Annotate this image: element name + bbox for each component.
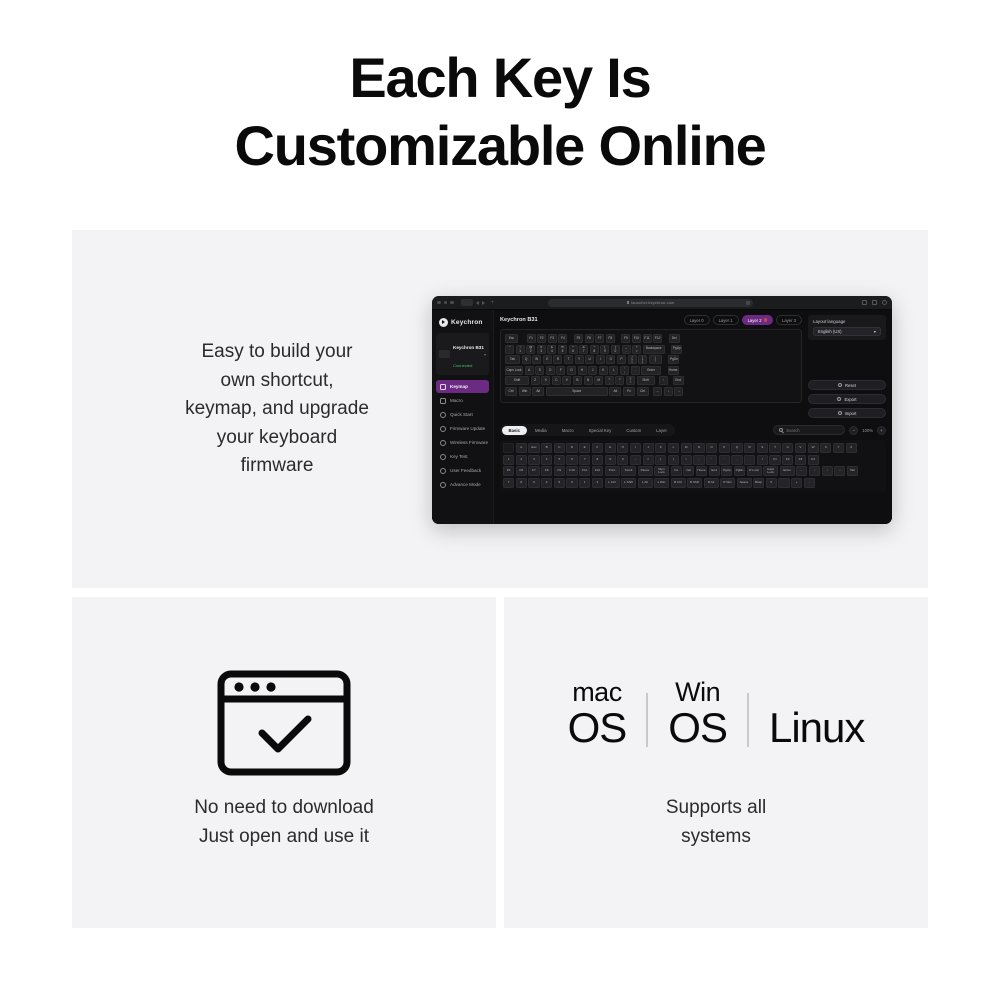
browser-nav-controls: +	[437, 299, 494, 306]
key-legend: F2	[540, 337, 544, 340]
layer-tab-layer-3[interactable]: Layer 3	[776, 315, 802, 325]
keycode-key[interactable]: T	[769, 443, 780, 453]
keycode-key[interactable]: Enter	[780, 466, 795, 476]
launcher-app-body: Keychron Keychron B31 Connected ▾ Keymap…	[432, 310, 892, 524]
key-legend: F10	[634, 337, 640, 340]
os-logo-winos-bottom: OS	[668, 707, 727, 749]
config-action-buttons: ResetExportImport	[808, 380, 886, 418]
keycode-key[interactable]: 6	[566, 478, 577, 488]
keyboard-key[interactable]: W	[532, 355, 541, 364]
key-legend: H	[581, 369, 583, 372]
keycode-key[interactable]: Space	[737, 478, 752, 488]
keycode-key[interactable]: Z	[846, 443, 857, 453]
keyboard-key[interactable]: Tab	[505, 355, 520, 364]
window-maximize-icon[interactable]	[450, 301, 454, 305]
keyboard-key[interactable]: }]	[638, 355, 647, 364]
keycode-grid[interactable]: AEscBCDEFGHIJKLMNOPQRSTUVWXYZ1234567890-…	[500, 440, 886, 492]
layer-tab-layer-0[interactable]: Layer 0	[684, 315, 710, 325]
keycode-key[interactable]: `	[719, 455, 730, 465]
key-legend: F5	[577, 337, 581, 340]
layer-tab-layer-2[interactable]: Layer 2	[742, 315, 773, 325]
keyboard-key[interactable]: |\	[649, 355, 662, 364]
keycode-key[interactable]: J	[643, 443, 654, 453]
export-button[interactable]: Export	[808, 394, 886, 404]
keyboard-key[interactable]: Del	[669, 334, 680, 343]
layout-language-value: English (US)	[818, 329, 842, 334]
tabs-icon[interactable]	[872, 300, 877, 305]
layer-tab-label: Layer 1	[719, 318, 733, 323]
keyboard-row: ShiftZXCVBNM<,>.?/Shift↑End	[505, 376, 797, 385]
keyboard-key[interactable]: Fn	[623, 387, 635, 396]
share-icon[interactable]	[862, 300, 867, 305]
chevron-left-icon[interactable]	[476, 301, 479, 305]
key-legend: ↑	[663, 379, 665, 382]
device-meta: Keychron B31 Connected	[453, 336, 481, 372]
keyboard-key[interactable]: G	[567, 366, 576, 375]
keyboard-key[interactable]: ?/	[626, 376, 635, 385]
keycode-key[interactable]: Caps Lock	[763, 466, 778, 476]
keycode-key[interactable]: Print	[605, 466, 620, 476]
keyboard-key[interactable]: F5	[574, 334, 583, 343]
keyboard-key[interactable]: F9	[621, 334, 630, 343]
keyboard-key[interactable]: Y	[575, 355, 584, 364]
keycode-key[interactable]: ←	[796, 466, 807, 476]
keycode-key[interactable]: ↓	[822, 466, 833, 476]
keyboard-key[interactable]: Space	[546, 387, 608, 396]
keyboard-key[interactable]: Ctrl	[637, 387, 649, 396]
keyboard-key[interactable]: #3	[537, 345, 546, 354]
import-icon	[838, 411, 842, 415]
keyboard-key[interactable]: U	[585, 355, 594, 364]
browser-window-check-icon	[216, 669, 352, 782]
keyboard-key[interactable]: +=	[632, 345, 641, 354]
keycode-key[interactable]: L	[668, 443, 679, 453]
keycode-key[interactable]: R Shift	[687, 478, 702, 488]
keyboard-key[interactable]: →	[674, 387, 683, 396]
keyboard-key[interactable]: ↓	[664, 387, 673, 396]
keycode-key[interactable]: +	[791, 478, 802, 488]
keycode-key[interactable]: Tab	[847, 466, 858, 476]
keycode-key[interactable]: R	[744, 443, 755, 453]
keycode-key[interactable]: C	[554, 443, 565, 453]
keycode-key[interactable]: 7	[503, 478, 514, 488]
keyboard-key[interactable]: J	[588, 366, 597, 375]
keycode-key[interactable]: 1	[579, 478, 590, 488]
keycode-key[interactable]: F	[592, 443, 603, 453]
keycode-key[interactable]: F10	[566, 466, 577, 476]
keycode-key[interactable]: 8	[592, 455, 603, 465]
keyboard-key[interactable]: Shift	[505, 376, 529, 385]
sidebar-nav-list: KeymapMacroQuick StartFirmware UpdateWir…	[436, 380, 489, 491]
sidebar-item-keymap[interactable]: Keymap	[436, 380, 489, 393]
key-legend: Space	[572, 390, 581, 393]
keycode-key[interactable]: Num Lock	[654, 466, 669, 476]
key-legend: Q	[525, 358, 527, 361]
keyboard-key[interactable]: N	[584, 376, 593, 385]
keycode-key[interactable]: I	[630, 443, 641, 453]
chevron-down-icon[interactable]: ▾	[484, 352, 486, 357]
layout-language-box: Layout language English (US) ▾	[808, 315, 886, 340]
key-legend-bottom: -	[626, 350, 627, 353]
keyboard-key[interactable]: PgUp	[671, 345, 682, 354]
sidebar-item-user-feedback[interactable]: User Feedback	[436, 464, 489, 477]
keyboard-key[interactable]: F1	[527, 334, 536, 343]
picker-tab-special-key[interactable]: Special Key	[582, 426, 619, 435]
keycode-key[interactable]: 9	[605, 455, 616, 465]
keycode-key[interactable]: 2	[592, 478, 603, 488]
keyboard-key[interactable]: M	[594, 376, 603, 385]
keyboard-key[interactable]: Caps Lock	[505, 366, 523, 375]
keyboard-key[interactable]: PgDn	[668, 355, 679, 364]
keycode-key[interactable]: L Win	[654, 478, 669, 488]
keycode-key[interactable]: 1	[503, 455, 514, 465]
keyboard-key[interactable]: :;	[620, 366, 629, 375]
copy-line: your keyboard	[122, 424, 432, 453]
page-title: Each Key Is Customizable Online	[0, 44, 1000, 180]
picker-tab-basic[interactable]: Basic	[502, 426, 527, 435]
layout-language-select[interactable]: English (US) ▾	[813, 327, 881, 336]
keyboard-key[interactable]: @2	[526, 345, 535, 354]
key-legend: D	[549, 369, 551, 372]
chevron-down-icon: ▾	[874, 329, 876, 334]
keyboard-key[interactable]: C	[552, 376, 561, 385]
keycode-key[interactable]: Home	[696, 466, 707, 476]
keycode-key[interactable]: .	[744, 455, 755, 465]
sidebar-item-firmware-update[interactable]: Firmware Update	[436, 422, 489, 435]
browser-address-bar[interactable]: launcher.keychron.com	[548, 299, 753, 307]
key-legend-bottom: 3	[540, 350, 542, 353]
caption-line-2: systems	[504, 822, 928, 851]
picker-tab-layer[interactable]: Layer	[649, 426, 674, 435]
keyboard-key[interactable]: X	[541, 376, 550, 385]
keyboard-key[interactable]: K	[599, 366, 608, 375]
keycode-key[interactable]: Y	[833, 443, 844, 453]
key-legend: Win	[522, 390, 528, 393]
keycode-key[interactable]: B	[541, 443, 552, 453]
keyboard-row: EscF1F2F3F4F5F6F7F8F9F10F11F12Del	[505, 334, 797, 343]
zoom-out-icon[interactable]: −	[849, 426, 858, 435]
keycode-key[interactable]: V	[795, 443, 806, 453]
keyboard-key[interactable]: H	[578, 366, 587, 375]
keyboard-key[interactable]: D	[546, 366, 555, 375]
keycode-key[interactable]: L Alt	[638, 478, 653, 488]
keycode-key[interactable]: Q	[731, 443, 742, 453]
keycode-key[interactable]: X	[820, 443, 831, 453]
keyboard-key[interactable]: F10	[632, 334, 641, 343]
keycode-key[interactable]: 5	[554, 455, 565, 465]
keycode-key[interactable]: 0	[766, 478, 777, 488]
keyboard-key[interactable]: <,	[605, 376, 614, 385]
keycode-row: F5F6F7F8F9F10F11F12PrintScrollPauseNum L…	[503, 466, 883, 476]
sidebar-item-macro[interactable]: Macro	[436, 394, 489, 407]
keycode-key[interactable]: F4	[808, 455, 819, 465]
key-legend-bottom: ]	[642, 360, 643, 363]
os-support-caption: Supports all systems	[504, 793, 928, 851]
key-legend: F7	[598, 337, 602, 340]
keycode-key[interactable]: 4	[541, 455, 552, 465]
keycode-key[interactable]: 4	[541, 478, 552, 488]
sidebar-item-label: Key Test	[450, 454, 468, 459]
keycode-key[interactable]: F8	[541, 466, 552, 476]
keycode-key[interactable]: 7	[579, 455, 590, 465]
keycode-key[interactable]: E	[579, 443, 590, 453]
keycode-key[interactable]: U	[782, 443, 793, 453]
keyboard-key[interactable]: Q	[522, 355, 531, 364]
keyboard-key[interactable]: F7	[595, 334, 604, 343]
keyboard-key[interactable]: F4	[558, 334, 567, 343]
keyboard-key[interactable]: R	[553, 355, 562, 364]
plus-icon[interactable]: +	[491, 300, 495, 306]
sidebar-item-advance-mode[interactable]: Advance Mode	[436, 478, 489, 491]
chevron-right-icon[interactable]	[482, 301, 485, 305]
copy-line: own shortcut,	[122, 367, 432, 396]
keyboard-key[interactable]: T	[564, 355, 573, 364]
picker-tab-custom[interactable]: Custom	[619, 426, 648, 435]
keyboard-key[interactable]: Win	[519, 387, 531, 396]
keycode-key[interactable]: ↑	[809, 466, 820, 476]
keycode-key[interactable]: ]	[668, 455, 679, 465]
keyboard-key[interactable]: "'	[631, 366, 640, 375]
keyboard-key[interactable]: Alt	[532, 387, 544, 396]
keyboard-key[interactable]: S	[535, 366, 544, 375]
copy-line: keymap, and upgrade	[122, 395, 432, 424]
keyboard-key[interactable]: Enter	[641, 366, 661, 375]
key-legend-bottom: 1	[519, 350, 521, 353]
keycode-key[interactable]: .	[778, 478, 789, 488]
key-legend: Ctrl	[509, 390, 514, 393]
key-legend: Enter	[647, 369, 655, 372]
device-selector[interactable]: Keychron B31 Connected ▾	[436, 333, 489, 375]
keyboard-key[interactable]: !1	[516, 345, 525, 354]
keycode-key[interactable]: G	[605, 443, 616, 453]
os-logo-row: mac OS Win OS Linux	[504, 679, 928, 749]
keycode-key[interactable]: Scroll	[621, 466, 636, 476]
keyboard-key[interactable]: Backspace	[643, 345, 665, 354]
keycode-key[interactable]: 0	[617, 455, 628, 465]
picker-toolbar: BasicMediaMacroSpecial KeyCustomLayer Se…	[500, 424, 886, 436]
keyboard-key[interactable]: $4	[547, 345, 556, 354]
search-input[interactable]: Search	[773, 425, 845, 435]
keycode-key[interactable]: R Win	[720, 478, 735, 488]
keycode-key[interactable]: F2	[782, 455, 793, 465]
keycode-key[interactable]: L Ctrl	[605, 478, 620, 488]
keycode-key[interactable]: A	[516, 443, 527, 453]
keycode-key[interactable]: F1	[769, 455, 780, 465]
keyboard-key[interactable]: Z	[531, 376, 540, 385]
keycode-key[interactable]: ,	[731, 455, 742, 465]
keychron-logo-icon	[439, 318, 448, 327]
keyboard-key[interactable]: {[	[628, 355, 637, 364]
keycode-key[interactable]: F9	[554, 466, 565, 476]
keycode-key[interactable]: R Alt	[704, 478, 719, 488]
keyboard-key[interactable]: I	[596, 355, 605, 364]
keycode-key[interactable]: -	[804, 478, 815, 488]
sidebar-item-wireless-firmware[interactable]: Wireless Firmware	[436, 436, 489, 449]
keycode-key[interactable]: =	[643, 455, 654, 465]
keycode-key[interactable]: 9	[528, 478, 539, 488]
sidebar-item-label: Firmware Update	[450, 426, 485, 431]
keyboard-key[interactable]: E	[543, 355, 552, 364]
keyboard-key[interactable]: F12	[653, 334, 662, 343]
config-column: Layout language English (US) ▾ ResetExpo…	[808, 315, 886, 418]
profile-icon[interactable]	[882, 300, 887, 305]
keyboard-key[interactable]: A	[525, 366, 534, 375]
keycode-key[interactable]: -	[630, 455, 641, 465]
keycode-key[interactable]: Ins	[671, 466, 682, 476]
keycode-key[interactable]: Bksp	[753, 478, 764, 488]
keycode-key[interactable]	[503, 443, 514, 453]
keycode-key[interactable]: /	[757, 455, 768, 465]
key-legend-bottom: \	[655, 360, 656, 363]
key-legend-bottom: 8	[593, 350, 595, 353]
keycode-key[interactable]: L Shift	[621, 478, 636, 488]
keyboard-key[interactable]: F8	[606, 334, 615, 343]
keycode-key[interactable]: 3	[528, 455, 539, 465]
keycode-key[interactable]: 6	[566, 455, 577, 465]
keyboard-key[interactable]: F	[556, 366, 565, 375]
keycode-key[interactable]: ;	[693, 455, 704, 465]
keycode-key[interactable]: End	[709, 466, 720, 476]
layer-tab-label: Layer 2	[748, 318, 762, 323]
bookmark-icon[interactable]	[746, 301, 750, 305]
keyboard-key[interactable]: Esc	[505, 334, 518, 343]
keycode-key[interactable]: K	[655, 443, 666, 453]
keycode-key[interactable]: S	[757, 443, 768, 453]
feature-panel-copy: Easy to build your own shortcut, keymap,…	[122, 338, 432, 481]
launcher-app-screenshot: + launcher.keychron.com	[432, 296, 892, 524]
keyboard-header: Keychron B31 Layer 0Layer 1Layer 2Layer …	[500, 315, 802, 325]
keycode-key[interactable]: D	[566, 443, 577, 453]
keyboard-key[interactable]: &7	[579, 345, 588, 354]
reset-button[interactable]: Reset	[808, 380, 886, 390]
keycode-key[interactable]: R Lock	[747, 466, 762, 476]
browser-chrome: + launcher.keychron.com	[432, 296, 892, 310]
keyboard-key[interactable]: P	[617, 355, 626, 364]
keyboard-key[interactable]: *8	[590, 345, 599, 354]
keyboard-key[interactable]: Ctrl	[505, 387, 517, 396]
keyboard-key[interactable]: F11	[643, 334, 652, 343]
key-test-icon	[440, 454, 446, 460]
key-legend: I	[600, 358, 601, 361]
key-legend: Shift	[642, 379, 648, 382]
keyboard-key[interactable]: F3	[548, 334, 557, 343]
keyboard-key[interactable]: ~`	[505, 345, 514, 354]
keycode-key[interactable]: PgDn	[734, 466, 745, 476]
button-label: Export	[844, 397, 856, 402]
keycode-key[interactable]: R Ctrl	[671, 478, 686, 488]
picker-tab-macro[interactable]: Macro	[555, 426, 581, 435]
keycode-key[interactable]: [	[655, 455, 666, 465]
keycode-key[interactable]: →	[834, 466, 845, 476]
keyboard-key[interactable]: Shift	[637, 376, 655, 385]
keyboard-key[interactable]: ^6	[569, 345, 578, 354]
keyboard-key[interactable]: F2	[537, 334, 546, 343]
keyboard-key[interactable]: End	[673, 376, 684, 385]
keyboard-key[interactable]: %5	[558, 345, 567, 354]
import-button[interactable]: Import	[808, 408, 886, 418]
keyboard-key[interactable]: ↑	[659, 376, 668, 385]
key-legend: Home	[669, 369, 678, 372]
keycode-key[interactable]: O	[706, 443, 717, 453]
key-legend: Esc	[509, 337, 514, 340]
keycode-key[interactable]: '	[706, 455, 717, 465]
keyboard-key[interactable]: >.	[615, 376, 624, 385]
key-legend: W	[535, 358, 538, 361]
keycode-key[interactable]: F7	[528, 466, 539, 476]
layer-tab-layer-1[interactable]: Layer 1	[713, 315, 739, 325]
keycode-key[interactable]: F5	[503, 466, 514, 476]
key-legend-bottom: 7	[583, 350, 585, 353]
keyboard-key[interactable]: B	[573, 376, 582, 385]
key-legend: F4	[561, 337, 565, 340]
keycode-key[interactable]: H	[617, 443, 628, 453]
keycode-key[interactable]: PgUp	[721, 466, 732, 476]
layer-tab-label: Layer 0	[690, 318, 704, 323]
search-placeholder: Search	[786, 428, 799, 433]
keycode-key[interactable]: W	[808, 443, 819, 453]
keyboard-key[interactable]: O	[606, 355, 615, 364]
key-legend: ←	[656, 390, 659, 393]
keyboard-key[interactable]: (9	[600, 345, 609, 354]
keyboard-key[interactable]: _-	[622, 345, 631, 354]
sidebar-item-quick-start[interactable]: Quick Start	[436, 408, 489, 421]
keyboard-key[interactable]: )0	[611, 345, 620, 354]
key-legend: F9	[624, 337, 628, 340]
keyboard-layout[interactable]: EscF1F2F3F4F5F6F7F8F9F10F11F12Del~`!1@2#…	[500, 329, 802, 403]
key-legend: Backspace	[646, 347, 662, 350]
keyboard-key[interactable]: Home	[668, 366, 679, 375]
keycode-key[interactable]: Del	[683, 466, 694, 476]
picker-tab-media[interactable]: Media	[528, 426, 554, 435]
key-legend-bottom: 9	[604, 350, 606, 353]
keycode-key[interactable]: F12	[592, 466, 603, 476]
browser-tab[interactable]	[461, 299, 473, 306]
sidebar-item-key-test[interactable]: Key Test	[436, 450, 489, 463]
keycode-row: AEscBCDEFGHIJKLMNOPQRSTUVWXYZ	[503, 443, 883, 453]
keycode-key[interactable]: F11	[579, 466, 590, 476]
keycode-key[interactable]: M	[681, 443, 692, 453]
key-legend-bottom: 6	[572, 350, 574, 353]
keyboard-key[interactable]: Alt	[609, 387, 621, 396]
os-logo-linux-label: Linux	[769, 707, 864, 749]
keycode-key[interactable]: F3	[795, 455, 806, 465]
keycode-key[interactable]: 8	[516, 478, 527, 488]
window-minimize-icon[interactable]	[444, 301, 448, 305]
keycode-key[interactable]: Esc	[528, 443, 539, 453]
keyboard-row: ~`!1@2#3$4%5^6&7*8(9)0_-+=BackspacePgUp	[505, 345, 797, 354]
keyboard-key[interactable]: L	[609, 366, 618, 375]
layer-clear-icon[interactable]	[764, 318, 768, 322]
keycode-key[interactable]: \	[681, 455, 692, 465]
zoom-in-icon[interactable]: +	[877, 426, 886, 435]
keyboard-key[interactable]: V	[562, 376, 571, 385]
keycode-key[interactable]: F6	[516, 466, 527, 476]
keycode-key[interactable]: N	[693, 443, 704, 453]
page-root: Each Key Is Customizable Online Easy to …	[0, 0, 1000, 1000]
os-logo-macos: mac OS	[568, 679, 627, 749]
keyboard-key[interactable]: ←	[653, 387, 662, 396]
keycode-key[interactable]: P	[719, 443, 730, 453]
keycode-key[interactable]: 2	[516, 455, 527, 465]
keycode-key[interactable]: Pause	[638, 466, 653, 476]
keyboard-key[interactable]: F6	[585, 334, 594, 343]
keycode-key[interactable]: 5	[554, 478, 565, 488]
zoom-value: 100%	[862, 428, 873, 433]
key-legend: F3	[550, 337, 554, 340]
window-close-icon[interactable]	[437, 301, 441, 305]
os-logo-macos-bottom: OS	[568, 707, 627, 749]
keyboard-row: Caps LockASDFGHJKL:;"'EnterHome	[505, 366, 797, 375]
